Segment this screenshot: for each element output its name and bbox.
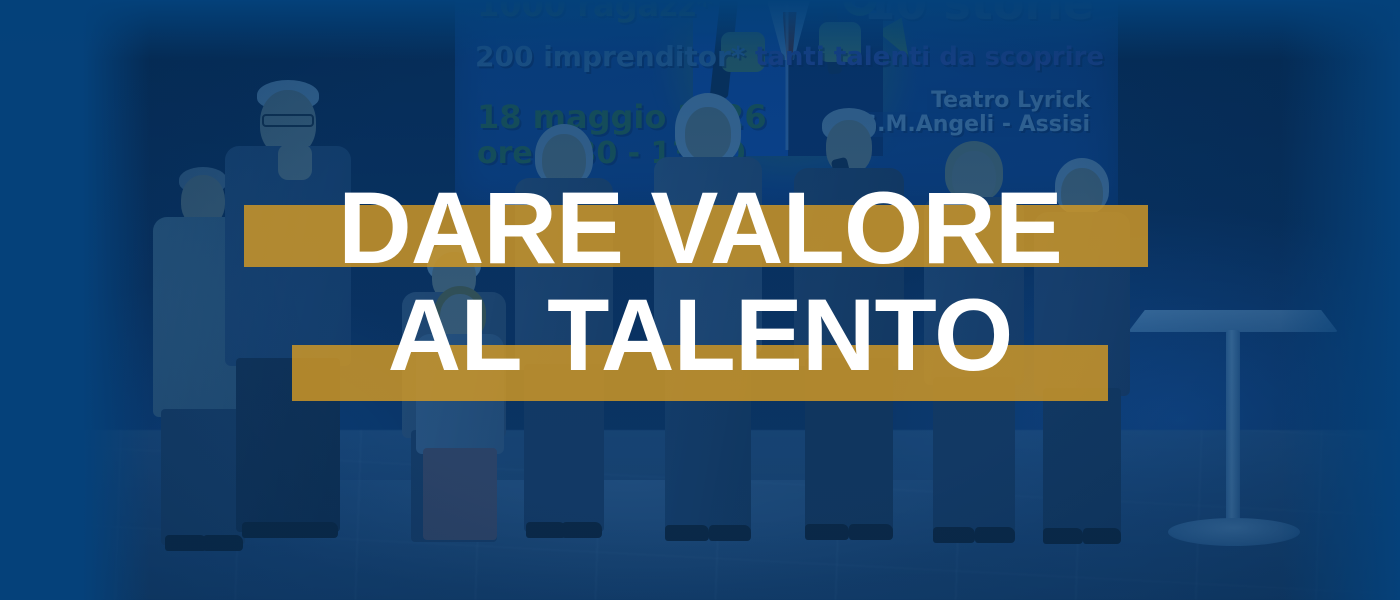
headline-line-2: AL TALENTO [0,285,1400,386]
headline: DARE VALORE AL TALENTO [0,178,1400,386]
top-navy-fade [0,0,1400,60]
headline-line-1: DARE VALORE [338,171,1062,285]
hero-banner: DAREVALORE 1000 ragazz* 200 im [0,0,1400,600]
